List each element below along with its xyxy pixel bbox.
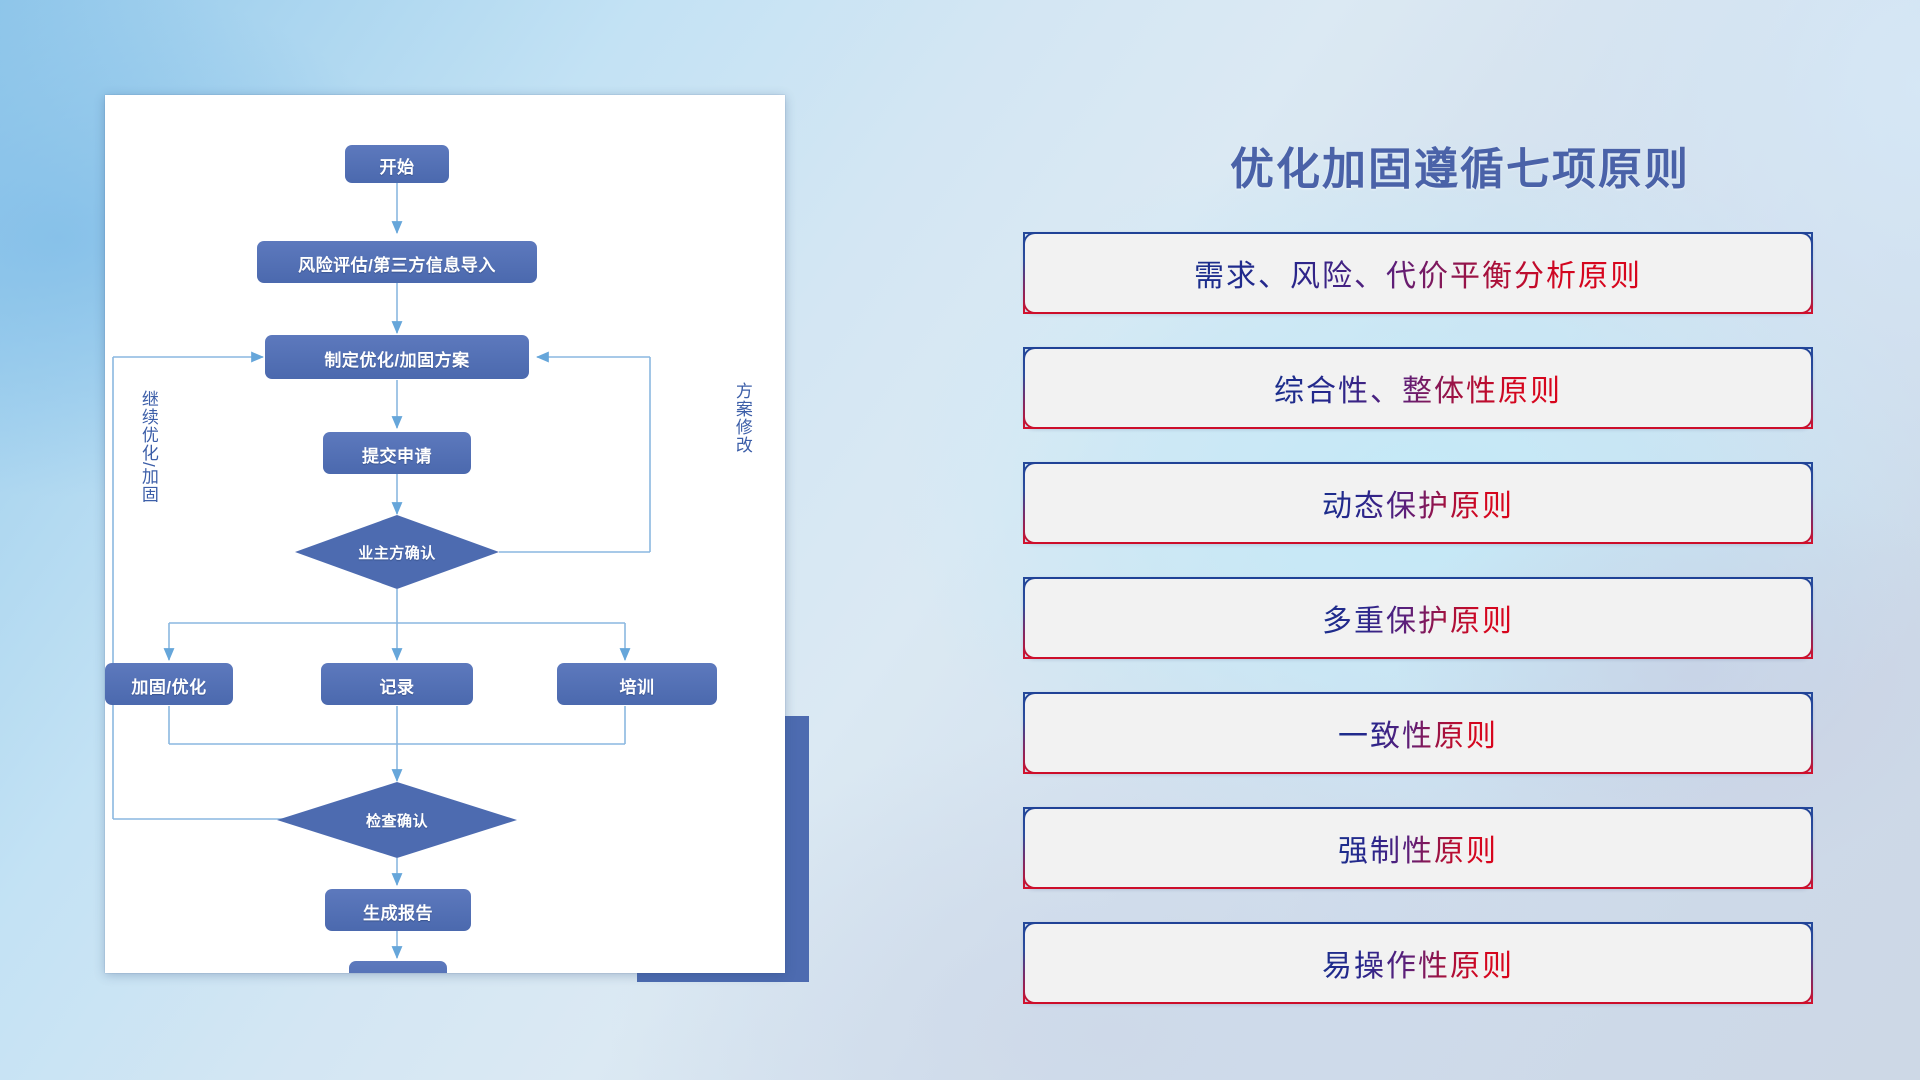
flowchart-panel: 开始 风险评估/第三方信息导入 制定优化/加固方案 提交申请 业主方确认 加固/	[0, 0, 860, 1080]
principle-card[interactable]: 综合性、整体性原则	[1023, 347, 1813, 429]
principles-card-list: 需求、风险、代价平衡分析原则 综合性、整体性原则 动态保护原则 多重保护原则 一…	[1023, 232, 1813, 1037]
principle-card[interactable]: 动态保护原则	[1023, 462, 1813, 544]
node-label-risk: 风险评估/第三方信息导入	[298, 251, 496, 276]
edge-label-continue-optimize: 继续优化/加固	[139, 390, 157, 504]
node-label-report: 生成报告	[363, 899, 433, 924]
principle-card[interactable]: 易操作性原则	[1023, 922, 1813, 1004]
principle-label: 多重保护原则	[1322, 596, 1514, 640]
principle-label: 易操作性原则	[1322, 941, 1514, 985]
principle-label: 动态保护原则	[1322, 481, 1514, 525]
principle-label: 一致性原则	[1338, 711, 1498, 755]
principle-label: 强制性原则	[1338, 826, 1498, 870]
node-label-record: 记录	[380, 673, 415, 698]
principle-card[interactable]: 一致性原则	[1023, 692, 1813, 774]
principle-label: 需求、风险、代价平衡分析原则	[1194, 251, 1642, 295]
panel-title: 优化加固遵循七项原则	[1000, 133, 1920, 197]
node-label-submit: 提交申请	[362, 442, 432, 467]
node-label-plan: 制定优化/加固方案	[324, 346, 469, 371]
node-label-train: 培训	[620, 673, 655, 698]
principle-card[interactable]: 强制性原则	[1023, 807, 1813, 889]
node-label-check-confirm: 检查确认	[366, 810, 428, 831]
edge-label-plan-revise: 方案修改	[733, 382, 751, 454]
node-label-reinforce: 加固/优化	[131, 673, 206, 698]
node-label-owner-confirm: 业主方确认	[358, 542, 436, 563]
principle-card[interactable]: 需求、风险、代价平衡分析原则	[1023, 232, 1813, 314]
principle-label: 综合性、整体性原则	[1274, 366, 1562, 410]
principle-card[interactable]: 多重保护原则	[1023, 577, 1813, 659]
principles-panel: 优化加固遵循七项原则 需求、风险、代价平衡分析原则 综合性、整体性原则 动态保护…	[1000, 0, 1920, 1080]
flowchart-diagram: 开始 风险评估/第三方信息导入 制定优化/加固方案 提交申请 业主方确认 加固/	[105, 95, 785, 973]
node-label-end: 结束	[381, 970, 416, 974]
node-label-start: 开始	[380, 153, 415, 178]
